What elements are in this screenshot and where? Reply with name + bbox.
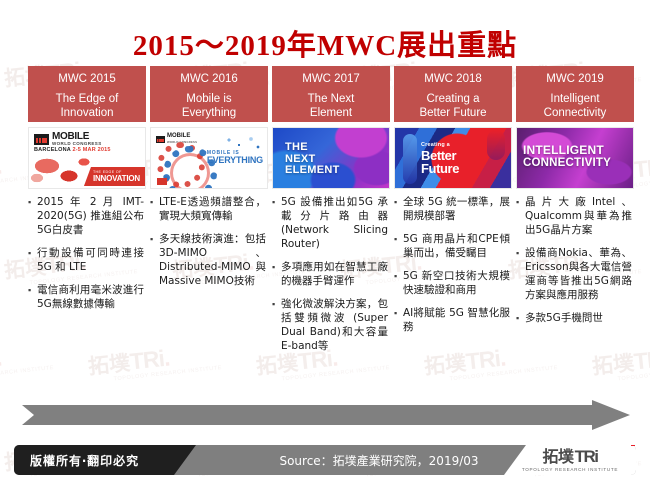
copyright-text: 版權所有‧翻印必究: [30, 452, 139, 469]
timeline-arrow: [22, 400, 630, 430]
list-item: ▪ 電信商利用毫米波進行5G無線數據傳輸: [28, 283, 144, 311]
bullet-text: 晶片大廠Intel、Qualcomm與華為推出5G晶片方案: [525, 195, 632, 237]
bullet-text: 5G 商用晶片和CPE傾巢而出，備受矚目: [403, 232, 510, 260]
column-year-label: MWC 2016: [153, 72, 265, 86]
column-header-2018: MWC 2018 Creating a Better Future: [394, 66, 512, 122]
logo-chinese-text: 拓墣: [543, 449, 574, 465]
particle-graphic: [225, 136, 261, 150]
column-year-label: MWC 2017: [275, 72, 387, 86]
column-bullets-2018: ▪ 全球 5G 統一標準，展開規模部署 ▪ 5G 商用晶片和CPE傾巢而出，備受…: [394, 195, 512, 343]
list-item: ▪ 5G 新空口技術大規模快速驗證和商用: [394, 269, 510, 297]
banner-line-3: Future: [421, 162, 459, 175]
bullet-marker-icon: ▪: [516, 311, 525, 326]
list-item: ▪ 5G 設備推出如5G 承載分片路由器 (Network Slicing Ro…: [272, 195, 388, 251]
column-mwc-2019: MWC 2019 Intelligent Connectivity INTELL…: [516, 66, 634, 362]
bullet-marker-icon: ▪: [516, 246, 525, 302]
mwc-logo-icon: [156, 136, 165, 143]
mwc-2018-banner-image: Creating a Better Future: [394, 127, 512, 189]
bullet-marker-icon: ▪: [394, 306, 403, 334]
list-item: ▪ 5G 商用晶片和CPE傾巢而出，備受矚目: [394, 232, 510, 260]
list-item: ▪ 2015 年 2 月 IMT-2020(5G) 推進組公布5G白皮書: [28, 195, 144, 237]
column-bullets-2016: ▪ LTE-E透過頻譜整合，實現大頻寬傳輸 ▪ 多天線技術演進：包括 3D-MI…: [150, 195, 268, 297]
bullet-marker-icon: ▪: [28, 246, 37, 274]
bullet-marker-icon: ▪: [272, 195, 281, 251]
banner-line-1: INTELLIGENT: [523, 144, 627, 157]
bullet-marker-icon: ▪: [272, 260, 281, 288]
bullet-text: 設備商Nokia、華為、Ericsson與各大電信營運商等皆推出5G網路方案與應…: [525, 246, 632, 302]
bullet-marker-icon: ▪: [28, 195, 37, 237]
column-header-2017: MWC 2017 The Next Element: [272, 66, 390, 122]
bullet-marker-icon: ▪: [394, 232, 403, 260]
column-theme-line1: Intelligent: [519, 93, 631, 107]
mwc-2015-banner-image: MOBILE WORLD CONGRESS BARCELONA 2-5 MAR …: [28, 127, 146, 189]
column-theme-line1: Creating a: [397, 93, 509, 107]
list-item: ▪ 強化微波解決方案，包括雙頻微波 (Super Dual Band)和大容量E…: [272, 297, 388, 353]
mwc-2017-banner-image: THE NEXT ELEMENT: [272, 127, 390, 189]
bullet-text: 多天線技術演進：包括 3D-MIMO、Distributed-MIMO 與Mas…: [159, 232, 266, 288]
bullet-text: 強化微波解決方案，包括雙頻微波 (Super Dual Band)和大容量E-b…: [281, 297, 388, 353]
column-mwc-2015: MWC 2015 The Edge of Innovation MOBILE W…: [28, 66, 146, 362]
banner-tagline-large: EVERYTHING: [207, 156, 263, 165]
shape-graphic-left: [403, 134, 417, 184]
bullet-marker-icon: ▪: [516, 195, 525, 237]
bullet-text: AI將賦能 5G 智慧化服務: [403, 306, 510, 334]
list-item: ▪ 行動設備可同時連接 5G 和 LTE: [28, 246, 144, 274]
list-item: ▪ 全球 5G 統一標準，展開規模部署: [394, 195, 510, 223]
column-theme-line2: Everything: [153, 107, 265, 121]
column-year-label: MWC 2015: [31, 72, 143, 86]
banner-text-block: THE NEXT ELEMENT: [285, 142, 340, 177]
bullet-text: 5G 設備推出如5G 承載分片路由器 (Network Slicing Rout…: [281, 195, 388, 251]
column-mwc-2016: MWC 2016 Mobile is Everything MOBILE WOR…: [150, 66, 268, 362]
logo-subtitle: TOPOLOGY RESEARCH INSTITUTE: [522, 467, 618, 472]
column-year-label: MWC 2018: [397, 72, 509, 86]
bullet-text: 多項應用如在智慧工廠的機器手臂運作: [281, 260, 388, 288]
mwc-logo-icon: [34, 134, 49, 145]
list-item: ▪ LTE-E透過頻譜整合，實現大頻寬傳輸: [150, 195, 266, 223]
shape-graphic-right: [487, 130, 505, 160]
column-header-2016: MWC 2016 Mobile is Everything: [150, 66, 268, 122]
bullet-marker-icon: ▪: [150, 232, 159, 288]
source-text: Source：拓墣產業研究院，2019/03: [229, 445, 529, 475]
banner-text-block: INTELLIGENT CONNECTIVITY: [523, 144, 627, 170]
column-year-label: MWC 2019: [519, 72, 631, 86]
column-theme-line2: Better Future: [397, 107, 509, 121]
banner-line-3: ELEMENT: [285, 165, 340, 177]
list-item: ▪ 設備商Nokia、華為、Ericsson與各大電信營運商等皆推出5G網路方案…: [516, 246, 632, 302]
logo-tri-text: TRi: [575, 448, 598, 465]
mwc-2016-banner-image: MOBILE WORLD CONGRESS MOBILE IS EVERYTHI…: [150, 127, 268, 189]
arrow-shape-icon: [22, 400, 630, 430]
bullet-marker-icon: ▪: [28, 283, 37, 311]
bullet-text: LTE-E透過頻譜整合，實現大頻寬傳輸: [159, 195, 266, 223]
column-theme-line2: Connectivity: [519, 107, 631, 121]
columns-container: MWC 2015 The Edge of Innovation MOBILE W…: [28, 66, 622, 362]
mwc-2019-banner-image: INTELLIGENT CONNECTIVITY: [516, 127, 634, 189]
badge-large-text: INNOVATION: [93, 174, 140, 183]
bullet-marker-icon: ▪: [272, 297, 281, 353]
bullet-marker-icon: ▪: [394, 195, 403, 223]
list-item: ▪ 晶片大廠Intel、Qualcomm與華為推出5G晶片方案: [516, 195, 632, 237]
column-mwc-2018: MWC 2018 Creating a Better Future Creati…: [394, 66, 512, 362]
innovation-badge: THE EDGE OF INNOVATION: [84, 167, 145, 186]
logo-accent-dot-icon: [631, 442, 635, 446]
column-mwc-2017: MWC 2017 The Next Element THE NEXT ELEME…: [272, 66, 390, 362]
list-item: ▪ 多項應用如在智慧工廠的機器手臂運作: [272, 260, 388, 288]
banner-line-2: CONNECTIVITY: [523, 157, 627, 170]
column-header-2019: MWC 2019 Intelligent Connectivity: [516, 66, 634, 122]
banner-brand: MOBILE: [52, 132, 102, 141]
column-bullets-2019: ▪ 晶片大廠Intel、Qualcomm與華為推出5G晶片方案 ▪ 設備商Nok…: [516, 195, 634, 335]
column-bullets-2015: ▪ 2015 年 2 月 IMT-2020(5G) 推進組公布5G白皮書 ▪ 行…: [28, 195, 146, 320]
column-header-2015: MWC 2015 The Edge of Innovation: [28, 66, 146, 122]
slide-canvas: 拓墣TRi.TOPOLOGY RESEARCH INSTITUTE拓墣TRi.T…: [0, 0, 650, 485]
banner-brand-sub: WORLD CONGRESS: [52, 141, 102, 146]
list-item: ▪ AI將賦能 5G 智慧化服務: [394, 306, 510, 334]
bullet-marker-icon: ▪: [150, 195, 159, 223]
banner-text-block: Better Future: [421, 149, 459, 175]
banner-line-1: THE: [285, 142, 340, 154]
list-item: ▪ 多天線技術演進：包括 3D-MIMO、Distributed-MIMO 與M…: [150, 232, 266, 288]
slide-footer: 版權所有‧翻印必究 Source：拓墣產業研究院，2019/03 拓墣 TRi …: [14, 445, 636, 475]
bullet-text: 電信商利用毫米波進行5G無線數據傳輸: [37, 283, 144, 311]
column-theme-line2: Element: [275, 107, 387, 121]
column-theme-line1: The Next: [275, 93, 387, 107]
bullet-marker-icon: ▪: [394, 269, 403, 297]
tri-logo: 拓墣 TRi TOPOLOGY RESEARCH INSTITUTE: [504, 445, 636, 475]
bullet-text: 全球 5G 統一標準，展開規模部署: [403, 195, 510, 223]
page-title: 2015～2019年MWC展出重點: [0, 22, 650, 64]
list-item: ▪ 多款5G手機問世: [516, 311, 632, 326]
column-bullets-2017: ▪ 5G 設備推出如5G 承載分片路由器 (Network Slicing Ro…: [272, 195, 390, 362]
bullet-text: 行動設備可同時連接 5G 和 LTE: [37, 246, 144, 274]
bullet-text: 5G 新空口技術大規模快速驗證和商用: [403, 269, 510, 297]
accent-bar: [157, 178, 167, 185]
bullet-text: 2015 年 2 月 IMT-2020(5G) 推進組公布5G白皮書: [37, 195, 144, 237]
column-theme-line1: Mobile is: [153, 93, 265, 107]
bullet-text: 多款5G手機問世: [525, 311, 632, 326]
column-theme-line1: The Edge of: [31, 93, 143, 107]
column-theme-line2: Innovation: [31, 107, 143, 121]
